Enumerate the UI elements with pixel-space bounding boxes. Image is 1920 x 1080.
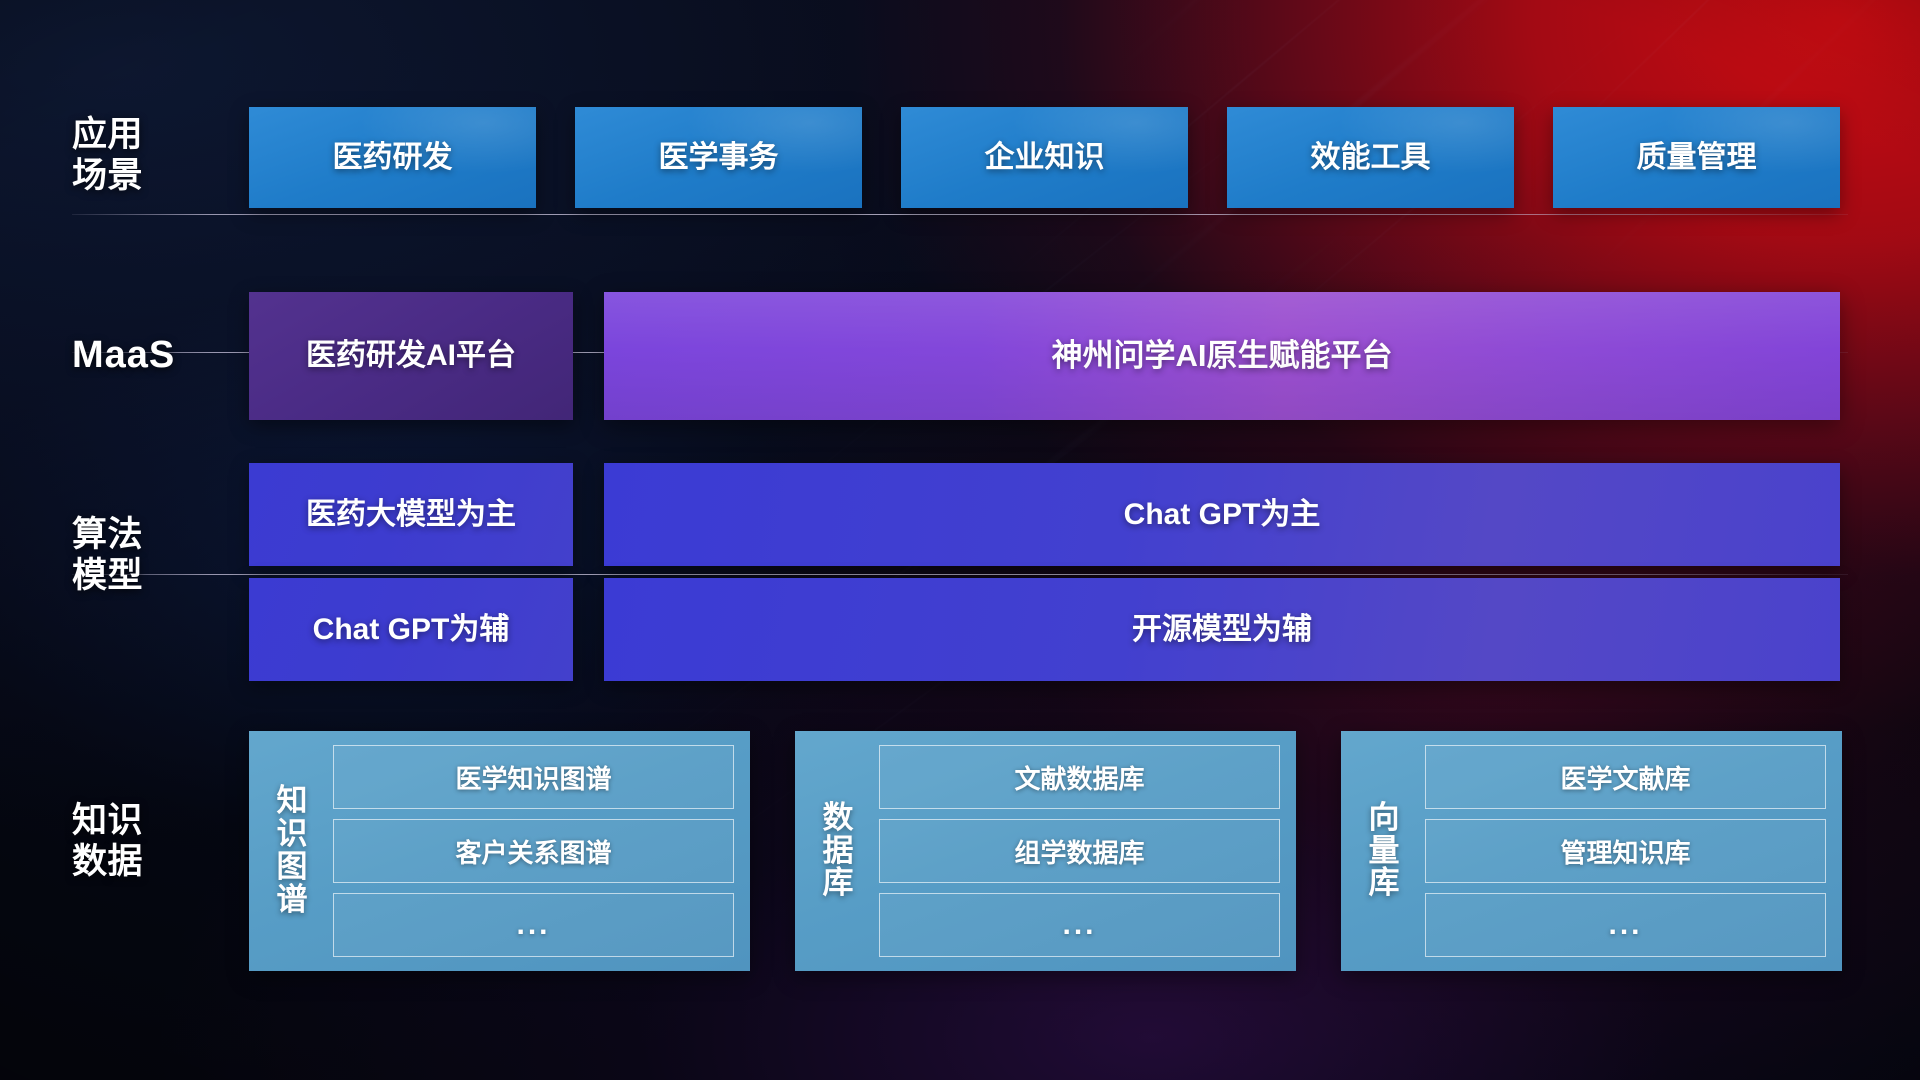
knowledge-panel-database[interactable]: 数 据 库 文献数据库 组学数据库 ... <box>795 731 1296 971</box>
app-box-medical-affairs-label: 医学事务 <box>659 140 779 176</box>
app-box-medical-affairs[interactable]: 医学事务 <box>575 107 862 208</box>
app-box-quality-management-label: 质量管理 <box>1637 140 1757 176</box>
app-box-efficiency-tools[interactable]: 效能工具 <box>1227 107 1514 208</box>
knowledge-item-more-graph[interactable]: ... <box>333 893 734 957</box>
algo-box-pharma-llm-primary[interactable]: 医药大模型为主 <box>249 463 573 566</box>
maas-box-drug-rd-ai-platform[interactable]: 医药研发AI平台 <box>249 292 573 420</box>
vlabel-char: 库 <box>1369 867 1400 900</box>
knowledge-panel-database-label: 数 据 库 <box>811 745 865 957</box>
knowledge-item-label: 医学文献库 <box>1560 759 1690 796</box>
app-box-drug-rd-label: 医药研发 <box>333 140 453 176</box>
algo-box-chatgpt-secondary[interactable]: Chat GPT为辅 <box>249 578 573 681</box>
knowledge-item-medical-knowledge-graph[interactable]: 医学知识图谱 <box>333 745 734 809</box>
knowledge-item-more-vector[interactable]: ... <box>1425 893 1826 957</box>
knowledge-item-more-database[interactable]: ... <box>879 893 1280 957</box>
app-box-drug-rd[interactable]: 医药研发 <box>249 107 536 208</box>
maas-box-shenzhou-wenxue-platform-label: 神州问学AI原生赋能平台 <box>1052 337 1393 374</box>
knowledge-item-label: 组学数据库 <box>1014 833 1144 870</box>
knowledge-panel-knowledge-graph-items: 医学知识图谱 客户关系图谱 ... <box>333 745 734 957</box>
knowledge-item-label: 管理知识库 <box>1560 833 1690 870</box>
vlabel-char: 数 <box>823 802 854 835</box>
vlabel-char: 库 <box>823 867 854 900</box>
row-label-application: 应用 场景 <box>72 114 212 197</box>
app-box-enterprise-knowledge-label: 企业知识 <box>985 140 1105 176</box>
knowledge-item-literature-database[interactable]: 文献数据库 <box>879 745 1280 809</box>
row-label-knowledge-line1: 知识 <box>72 800 212 841</box>
divider-application-maas <box>72 214 1848 215</box>
vlabel-char: 谱 <box>277 884 308 917</box>
app-box-quality-management[interactable]: 质量管理 <box>1553 107 1840 208</box>
vlabel-char: 向 <box>1369 802 1400 835</box>
knowledge-panel-knowledge-graph-label: 知 识 图 谱 <box>265 745 319 957</box>
algo-box-opensource-secondary[interactable]: 开源模型为辅 <box>604 578 1840 681</box>
diagram-content: 应用 场景 医药研发 医学事务 企业知识 效能工具 质量管理 MaaS 医药研发… <box>0 0 1920 1080</box>
vlabel-char: 图 <box>277 851 308 884</box>
app-box-enterprise-knowledge[interactable]: 企业知识 <box>901 107 1188 208</box>
algo-box-pharma-llm-primary-label: 医药大模型为主 <box>306 497 516 533</box>
knowledge-panel-database-items: 文献数据库 组学数据库 ... <box>879 745 1280 957</box>
vlabel-char: 知 <box>277 785 308 818</box>
knowledge-item-customer-relation-graph[interactable]: 客户关系图谱 <box>333 819 734 883</box>
vlabel-char: 量 <box>1369 835 1400 868</box>
knowledge-panel-vector-store[interactable]: 向 量 库 医学文献库 管理知识库 ... <box>1341 731 1842 971</box>
row-label-knowledge-line2: 数据 <box>72 841 212 882</box>
algo-box-chatgpt-secondary-label: Chat GPT为辅 <box>313 612 510 648</box>
vlabel-char: 据 <box>823 835 854 868</box>
row-label-application-line1: 应用 <box>72 114 212 155</box>
maas-box-drug-rd-ai-platform-label: 医药研发AI平台 <box>306 338 516 374</box>
vlabel-char: 识 <box>277 818 308 851</box>
knowledge-panel-vector-store-items: 医学文献库 管理知识库 ... <box>1425 745 1826 957</box>
knowledge-item-label: 客户关系图谱 <box>455 833 611 870</box>
knowledge-item-label: 医学知识图谱 <box>455 759 611 796</box>
row-label-application-line2: 场景 <box>72 155 212 196</box>
row-label-algorithm: 算法 模型 <box>72 514 212 597</box>
knowledge-item-label: ... <box>516 908 550 942</box>
architecture-diagram-slide: 应用 场景 医药研发 医学事务 企业知识 效能工具 质量管理 MaaS 医药研发… <box>0 0 1920 1080</box>
knowledge-panel-vector-store-label: 向 量 库 <box>1357 745 1411 957</box>
knowledge-item-label: ... <box>1608 908 1642 942</box>
row-label-maas: MaaS <box>72 333 212 378</box>
algo-box-chatgpt-primary-label: Chat GPT为主 <box>1124 497 1321 533</box>
knowledge-item-label: ... <box>1062 908 1096 942</box>
row-label-knowledge: 知识 数据 <box>72 800 212 883</box>
knowledge-item-label: 文献数据库 <box>1014 759 1144 796</box>
row-label-algorithm-line2: 模型 <box>72 555 212 596</box>
knowledge-item-management-knowledge-store[interactable]: 管理知识库 <box>1425 819 1826 883</box>
algo-box-chatgpt-primary[interactable]: Chat GPT为主 <box>604 463 1840 566</box>
knowledge-item-medical-literature-store[interactable]: 医学文献库 <box>1425 745 1826 809</box>
divider-algorithm-knowledge <box>72 574 1848 575</box>
maas-box-shenzhou-wenxue-platform[interactable]: 神州问学AI原生赋能平台 <box>604 292 1840 420</box>
algo-box-opensource-secondary-label: 开源模型为辅 <box>1132 612 1312 648</box>
row-label-algorithm-line1: 算法 <box>72 514 212 555</box>
app-box-efficiency-tools-label: 效能工具 <box>1311 140 1431 176</box>
knowledge-item-omics-database[interactable]: 组学数据库 <box>879 819 1280 883</box>
knowledge-panel-knowledge-graph[interactable]: 知 识 图 谱 医学知识图谱 客户关系图谱 ... <box>249 731 750 971</box>
